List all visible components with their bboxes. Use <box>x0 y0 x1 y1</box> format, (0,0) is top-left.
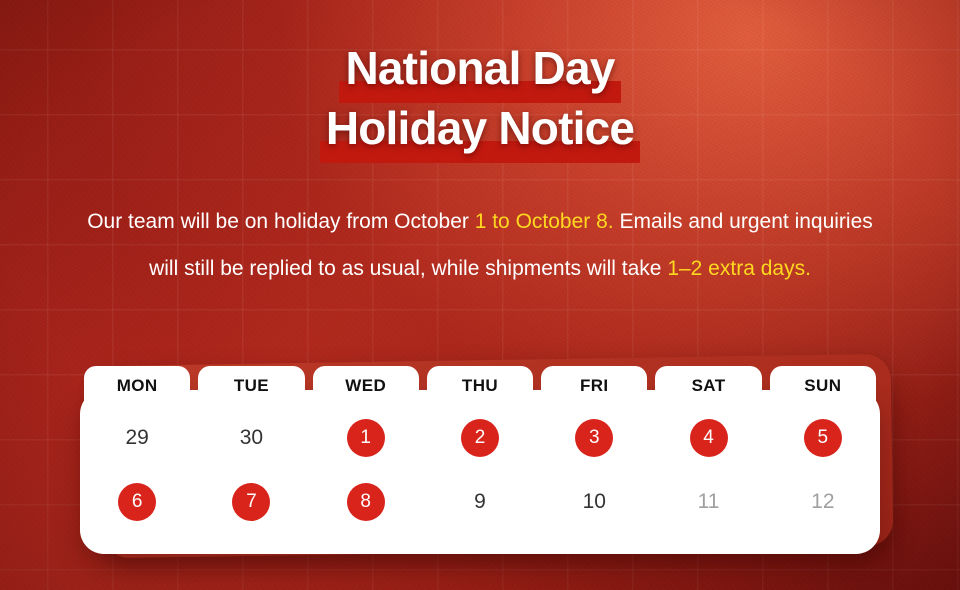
title-line-2-text: Holiday Notice <box>326 102 634 154</box>
calendar-day-cell[interactable]: 3 <box>537 406 651 470</box>
weekday-tab-sat: SAT <box>655 366 761 406</box>
calendar-day-holiday: 4 <box>690 419 728 457</box>
calendar-weekday-header: MONTUEWEDTHUFRISATSUN <box>80 366 880 406</box>
weekday-tab-wed: WED <box>313 366 419 406</box>
weekday-tab-sun: SUN <box>770 366 876 406</box>
calendar-day-cell[interactable]: 7 <box>194 470 308 534</box>
message-part-1: Our team will be on holiday from October <box>87 210 475 233</box>
message-highlight-delay: 1–2 extra days. <box>667 257 811 280</box>
calendar-day-holiday: 3 <box>575 419 613 457</box>
calendar-week-row: 293012345 <box>80 406 880 470</box>
calendar-day: 30 <box>232 419 270 457</box>
calendar-day-holiday: 1 <box>347 419 385 457</box>
weekday-tab-mon: MON <box>84 366 190 406</box>
notice-banner: National Day Holiday Notice Our team wil… <box>0 0 960 590</box>
calendar-week-row: 6789101112 <box>80 470 880 534</box>
calendar-day-holiday: 5 <box>804 419 842 457</box>
page-title: National Day Holiday Notice <box>0 38 960 158</box>
calendar-day-holiday: 8 <box>347 483 385 521</box>
calendar-day-cell[interactable]: 10 <box>537 470 651 534</box>
calendar-day-holiday: 2 <box>461 419 499 457</box>
calendar-day: 11 <box>690 483 728 521</box>
notice-message: Our team will be on holiday from October… <box>80 198 880 292</box>
weekday-tab-tue: TUE <box>198 366 304 406</box>
weekday-tab-fri: FRI <box>541 366 647 406</box>
calendar-day-cell[interactable]: 11 <box>651 470 765 534</box>
weekday-tab-thu: THU <box>427 366 533 406</box>
title-line-2: Holiday Notice <box>0 98 960 158</box>
calendar-day-cell[interactable]: 30 <box>194 406 308 470</box>
calendar-day: 12 <box>804 483 842 521</box>
calendar-day-cell[interactable]: 8 <box>309 470 423 534</box>
calendar-day-holiday: 6 <box>118 483 156 521</box>
calendar-day: 29 <box>118 419 156 457</box>
calendar-day-holiday: 7 <box>232 483 270 521</box>
title-line-1-text: National Day <box>345 42 614 94</box>
calendar-day-cell[interactable]: 12 <box>766 470 880 534</box>
message-highlight-dates: 1 to October 8. <box>475 210 614 233</box>
calendar-day-cell[interactable]: 5 <box>766 406 880 470</box>
calendar-day-cell[interactable]: 6 <box>80 470 194 534</box>
calendar-day-cell[interactable]: 29 <box>80 406 194 470</box>
title-line-1: National Day <box>0 38 960 98</box>
calendar-day: 10 <box>575 483 613 521</box>
calendar-day-cell[interactable]: 9 <box>423 470 537 534</box>
calendar-day-cell[interactable]: 4 <box>651 406 765 470</box>
holiday-calendar: MONTUEWEDTHUFRISATSUN 293012345678910111… <box>80 366 880 556</box>
calendar-day: 9 <box>461 483 499 521</box>
calendar-date-grid: 2930123456789101112 <box>80 406 880 554</box>
calendar-day-cell[interactable]: 1 <box>309 406 423 470</box>
calendar-day-cell[interactable]: 2 <box>423 406 537 470</box>
